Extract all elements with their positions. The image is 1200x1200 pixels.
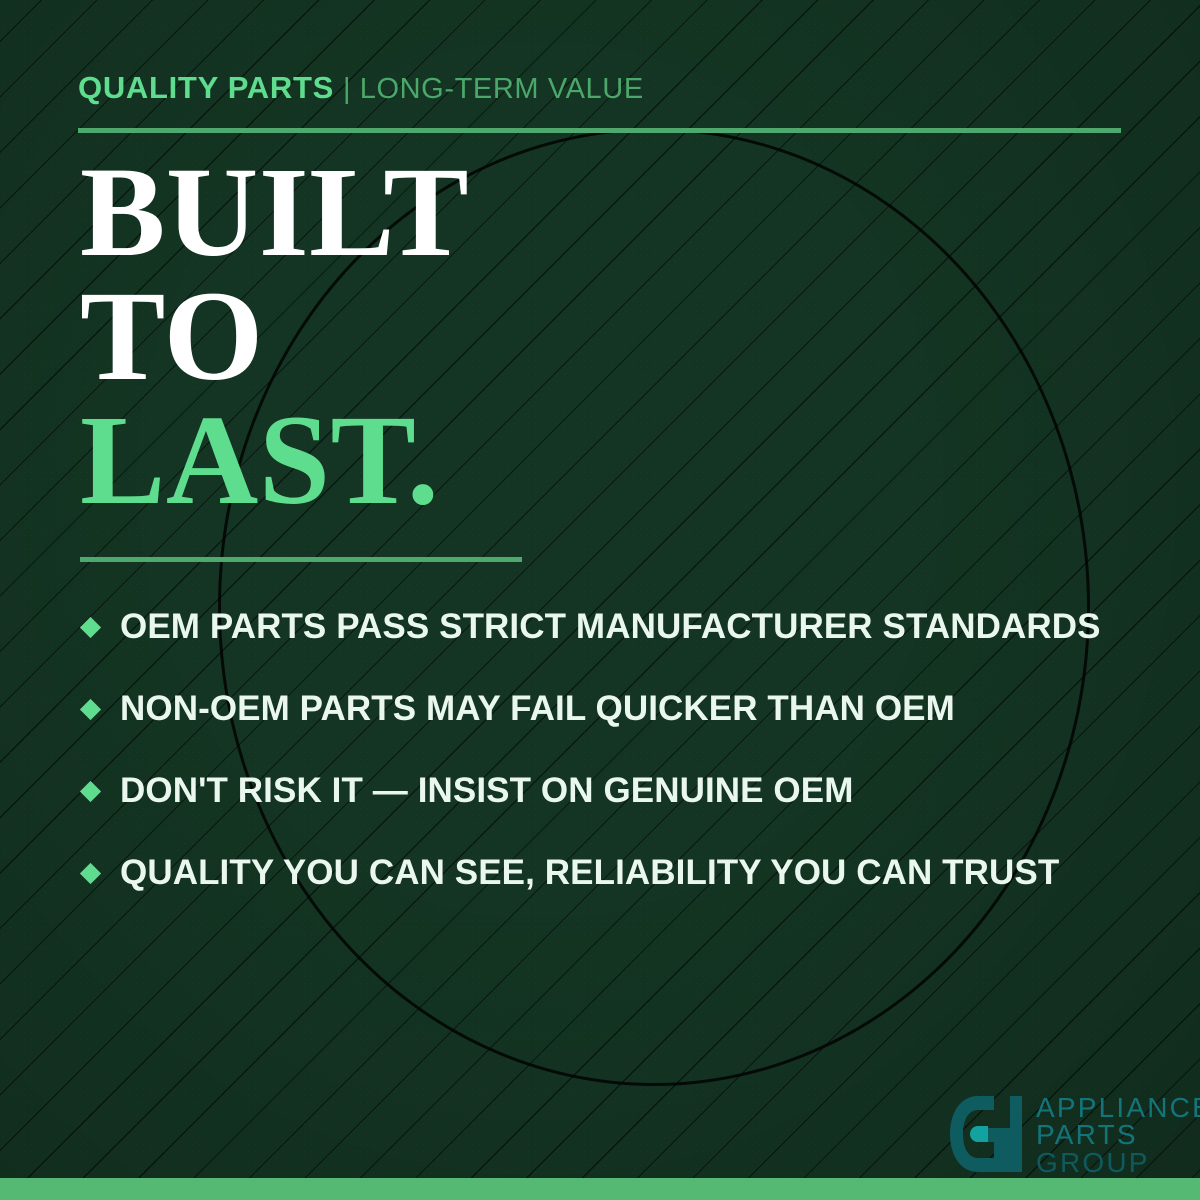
list-item: QUALITY YOU CAN SEE, RELIABILITY YOU CAN… (80, 832, 1170, 914)
headline-line-2: TO (80, 274, 469, 398)
list-item-label: QUALITY YOU CAN SEE, RELIABILITY YOU CAN… (120, 853, 1059, 893)
headline-line-1: BUILT (80, 150, 469, 274)
diamond-bullet-icon (80, 616, 101, 637)
list-item: DON'T RISK IT — INSIST ON GENUINE OEM (80, 750, 1170, 832)
diamond-bullet-icon (80, 862, 101, 883)
appliance-parts-group-g-mark (948, 1092, 1026, 1176)
headline-line-3: LAST. (80, 398, 469, 522)
list-item: NON-OEM PARTS MAY FAIL QUICKER THAN OEM (80, 668, 1170, 750)
benefits-list: OEM PARTS PASS STRICT MANUFACTURER STAND… (80, 586, 1170, 914)
header-divider-rule (78, 128, 1121, 133)
list-item-label: OEM PARTS PASS STRICT MANUFACTURER STAND… (120, 607, 1101, 647)
list-item: OEM PARTS PASS STRICT MANUFACTURER STAND… (80, 586, 1170, 668)
brand-logo-line-2: PARTS (1036, 1121, 1200, 1148)
brand-logo: APPLIANCE PARTS GROUP (948, 1092, 1200, 1176)
list-item-label: DON'T RISK IT — INSIST ON GENUINE OEM (120, 771, 853, 811)
brand-logo-line-1: APPLIANCE (1036, 1094, 1200, 1121)
diamond-bullet-icon (80, 780, 101, 801)
brand-logo-wordmark: APPLIANCE PARTS GROUP (1036, 1092, 1200, 1176)
promo-poster: QUALITY PARTS| LONG-TERM VALUE BUILT TO … (0, 0, 1200, 1200)
list-item-label: NON-OEM PARTS MAY FAIL QUICKER THAN OEM (120, 689, 955, 729)
eyebrow-header: QUALITY PARTS| LONG-TERM VALUE (78, 72, 644, 104)
diamond-bullet-icon (80, 698, 101, 719)
bottom-accent-bar (0, 1178, 1200, 1200)
brand-logo-line-3: GROUP (1036, 1149, 1200, 1176)
eyebrow-light-label: | LONG-TERM VALUE (343, 73, 644, 105)
poster-content: QUALITY PARTS| LONG-TERM VALUE BUILT TO … (0, 0, 1200, 1200)
eyebrow-strong-label: QUALITY PARTS (78, 70, 334, 105)
headline: BUILT TO LAST. (80, 150, 469, 522)
headline-divider-rule (80, 557, 522, 562)
